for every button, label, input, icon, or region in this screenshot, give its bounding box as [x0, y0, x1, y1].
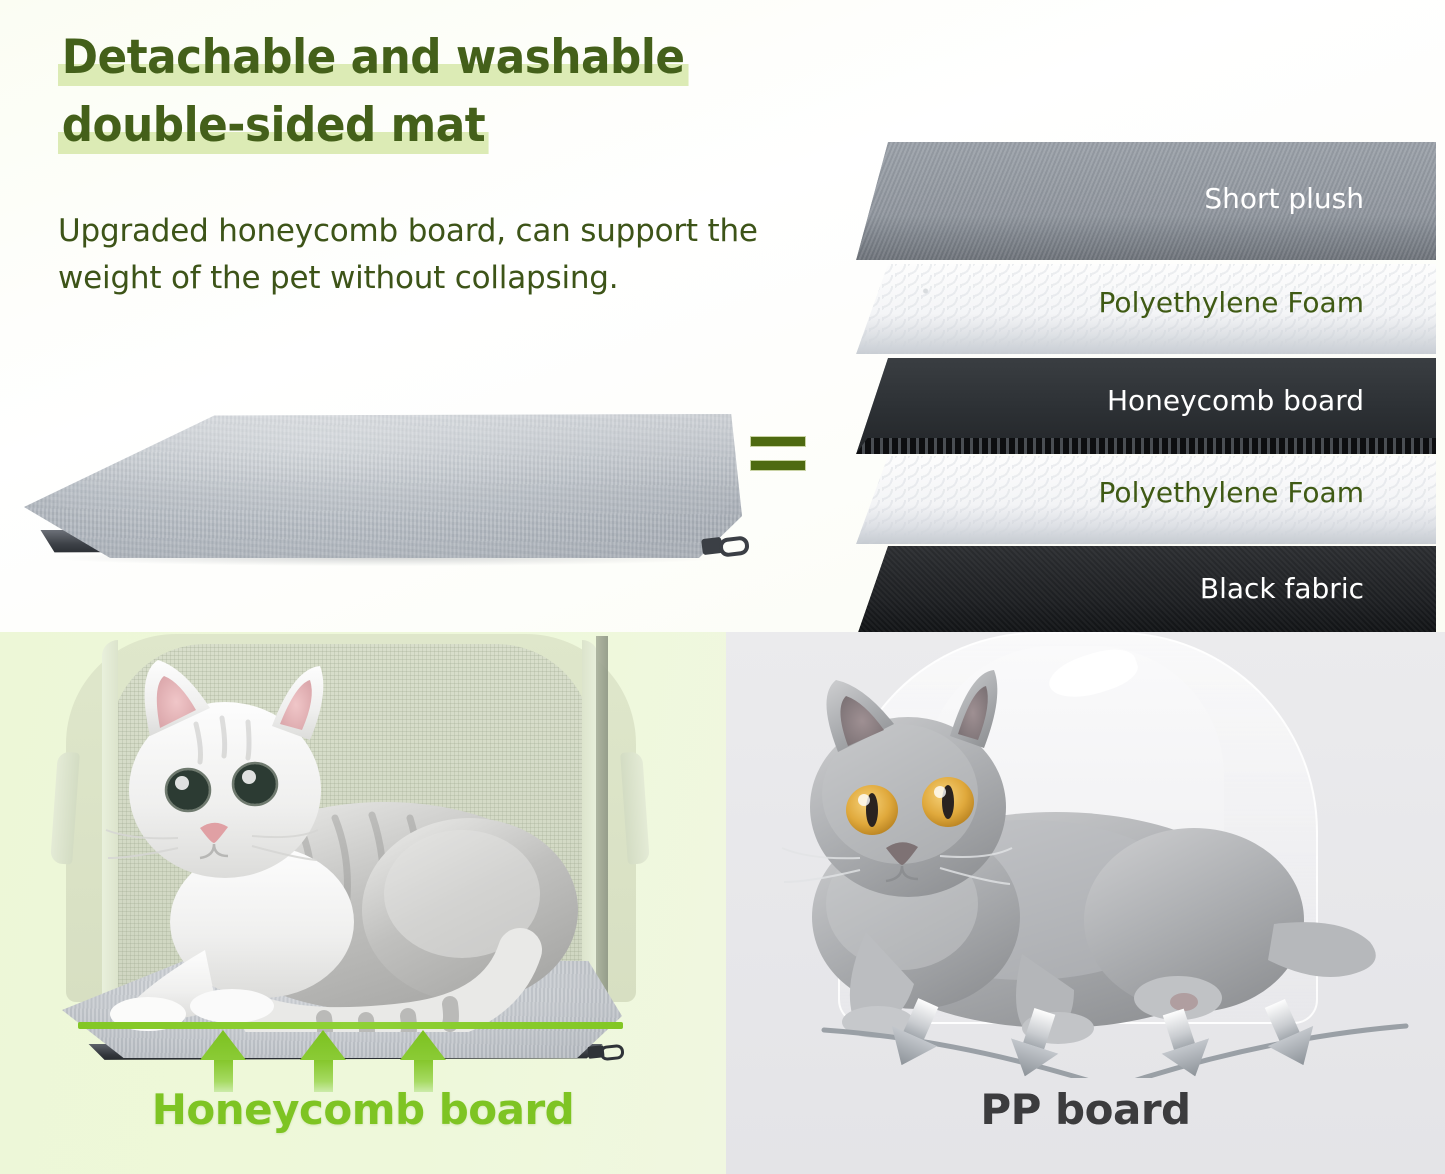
layer-black-fabric: Black fabric	[856, 546, 1436, 638]
layer-polyethylene-foam-top: Polyethylene Foam	[856, 264, 1436, 354]
zipper-ring	[718, 535, 750, 558]
layer-label-short-plush: Short plush	[1204, 182, 1364, 215]
infographic-page: Detachable and washable double-sided mat…	[0, 0, 1445, 1174]
layer-stack-diagram: Short plush Polyethylene Foam Honeycomb …	[856, 142, 1436, 572]
layer-honeycomb-board: Honeycomb board	[856, 358, 1436, 454]
honeycomb-cells-edge	[856, 438, 1436, 454]
pp-board-caption: PP board	[726, 1085, 1445, 1134]
title-row-1: Detachable and washable	[58, 34, 858, 86]
layer-short-plush: Short plush	[856, 142, 1436, 260]
arrow-head	[300, 1030, 346, 1060]
honeycomb-support-line	[78, 1022, 623, 1029]
title-row-2: double-sided mat	[58, 102, 858, 154]
layer-label-black-fabric: Black fabric	[1200, 572, 1364, 605]
layer-polyethylene-foam-bottom: Polyethylene Foam	[856, 456, 1436, 544]
page-subtitle: Upgraded honeycomb board, can support th…	[58, 208, 818, 302]
layer-label-honeycomb-board: Honeycomb board	[1107, 384, 1364, 417]
zipper-pull-icon	[702, 534, 754, 568]
page-title-line-2: double-sided mat	[58, 102, 489, 154]
arrow-head	[400, 1030, 446, 1060]
arrow-head	[200, 1030, 246, 1060]
title-block: Detachable and washable double-sided mat	[58, 34, 858, 170]
gray-shorthair-cat-image	[726, 632, 1386, 1052]
up-arrow-icon-2	[300, 1030, 346, 1092]
layer-label-foam-top: Polyethylene Foam	[1099, 286, 1364, 319]
layer-label-foam-bottom: Polyethylene Foam	[1099, 476, 1364, 509]
equals-sign-icon	[750, 436, 806, 480]
silver-tabby-cat-image	[0, 632, 660, 1032]
equals-bar-bottom	[750, 460, 806, 471]
mat-top-surface	[24, 408, 742, 558]
gray-plush-mat	[14, 398, 754, 588]
page-title-line-1: Detachable and washable	[58, 34, 688, 86]
up-arrow-icon-3	[400, 1030, 446, 1092]
equals-bar-top	[750, 436, 806, 447]
honeycomb-board-caption: Honeycomb board	[0, 1085, 726, 1134]
flat-mat-zipper-ring	[599, 1044, 624, 1061]
up-arrow-icon-1	[200, 1030, 246, 1092]
top-section: Detachable and washable double-sided mat…	[0, 0, 1445, 632]
